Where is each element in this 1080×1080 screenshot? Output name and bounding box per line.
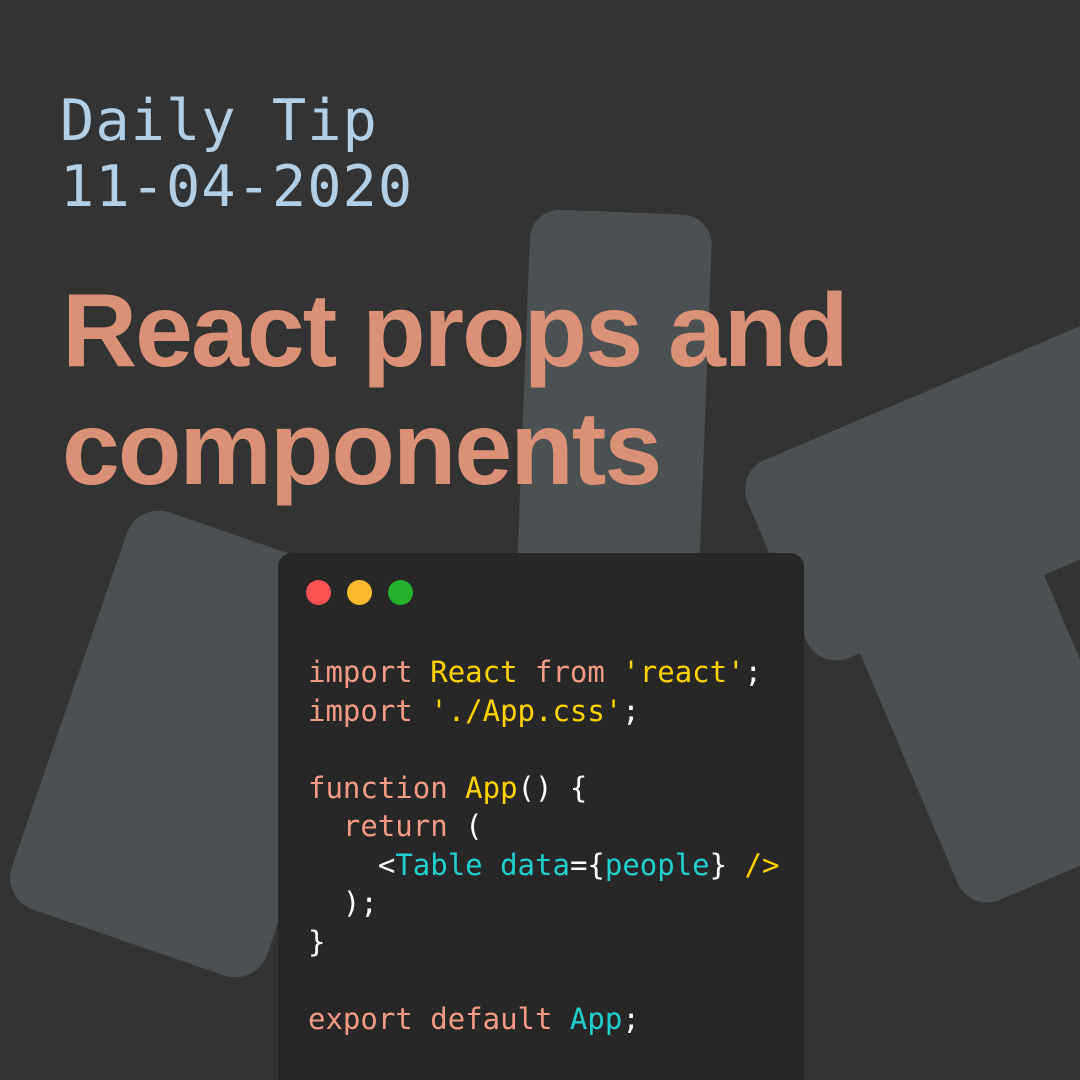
code-token: App xyxy=(570,1002,622,1036)
code-token: } xyxy=(308,925,325,959)
code-token xyxy=(413,694,430,728)
code-token: function xyxy=(308,771,448,805)
code-token: from xyxy=(535,655,605,689)
code-token: ; xyxy=(622,694,639,728)
code-token: export xyxy=(308,1002,413,1036)
code-token: people xyxy=(605,848,710,882)
header-block: Daily Tip 11-04-2020 xyxy=(60,88,413,220)
code-line: return ( xyxy=(308,807,779,846)
code-token: /> xyxy=(745,848,780,882)
code-token: () { xyxy=(518,771,588,805)
code-token: ; xyxy=(622,1002,639,1036)
code-token: < xyxy=(308,848,395,882)
code-token: App xyxy=(465,771,517,805)
code-token: data xyxy=(500,848,570,882)
code-token: ( xyxy=(448,809,483,843)
code-token: Table xyxy=(395,848,482,882)
code-token xyxy=(552,1002,569,1036)
code-token xyxy=(413,655,430,689)
code-token: default xyxy=(430,1002,552,1036)
code-window: import React from 'react';import './App.… xyxy=(278,553,804,1080)
page-title: React props and components xyxy=(62,272,892,508)
code-token xyxy=(518,655,535,689)
code-token: ; xyxy=(745,655,762,689)
code-line: } xyxy=(308,923,779,962)
code-line: function App() { xyxy=(308,769,779,808)
code-token: ={ xyxy=(570,848,605,882)
code-line xyxy=(308,961,779,1000)
code-line: ); xyxy=(308,884,779,923)
code-token: import xyxy=(308,655,413,689)
code-token: return xyxy=(343,809,448,843)
slide-canvas: Daily Tip 11-04-2020 React props and com… xyxy=(0,0,1080,1080)
code-token xyxy=(308,809,343,843)
minimize-icon[interactable] xyxy=(347,580,372,605)
code-token xyxy=(605,655,622,689)
zoom-icon[interactable] xyxy=(388,580,413,605)
window-controls xyxy=(306,580,413,605)
code-token: './App.css' xyxy=(430,694,622,728)
date-label: 11-04-2020 xyxy=(60,154,413,220)
code-token xyxy=(448,771,465,805)
close-icon[interactable] xyxy=(306,580,331,605)
kicker-label: Daily Tip xyxy=(60,88,413,154)
code-token: import xyxy=(308,694,413,728)
code-token xyxy=(483,848,500,882)
code-line: import './App.css'; xyxy=(308,692,779,731)
code-token xyxy=(413,1002,430,1036)
code-token: React xyxy=(430,655,517,689)
code-token: 'react' xyxy=(622,655,744,689)
code-line: import React from 'react'; xyxy=(308,653,779,692)
code-block: import React from 'react';import './App.… xyxy=(308,653,779,1038)
code-line: export default App; xyxy=(308,1000,779,1039)
code-line: <Table data={people} /> xyxy=(308,846,779,885)
code-token: ); xyxy=(308,886,378,920)
code-token: } xyxy=(710,848,745,882)
code-line xyxy=(308,730,779,769)
